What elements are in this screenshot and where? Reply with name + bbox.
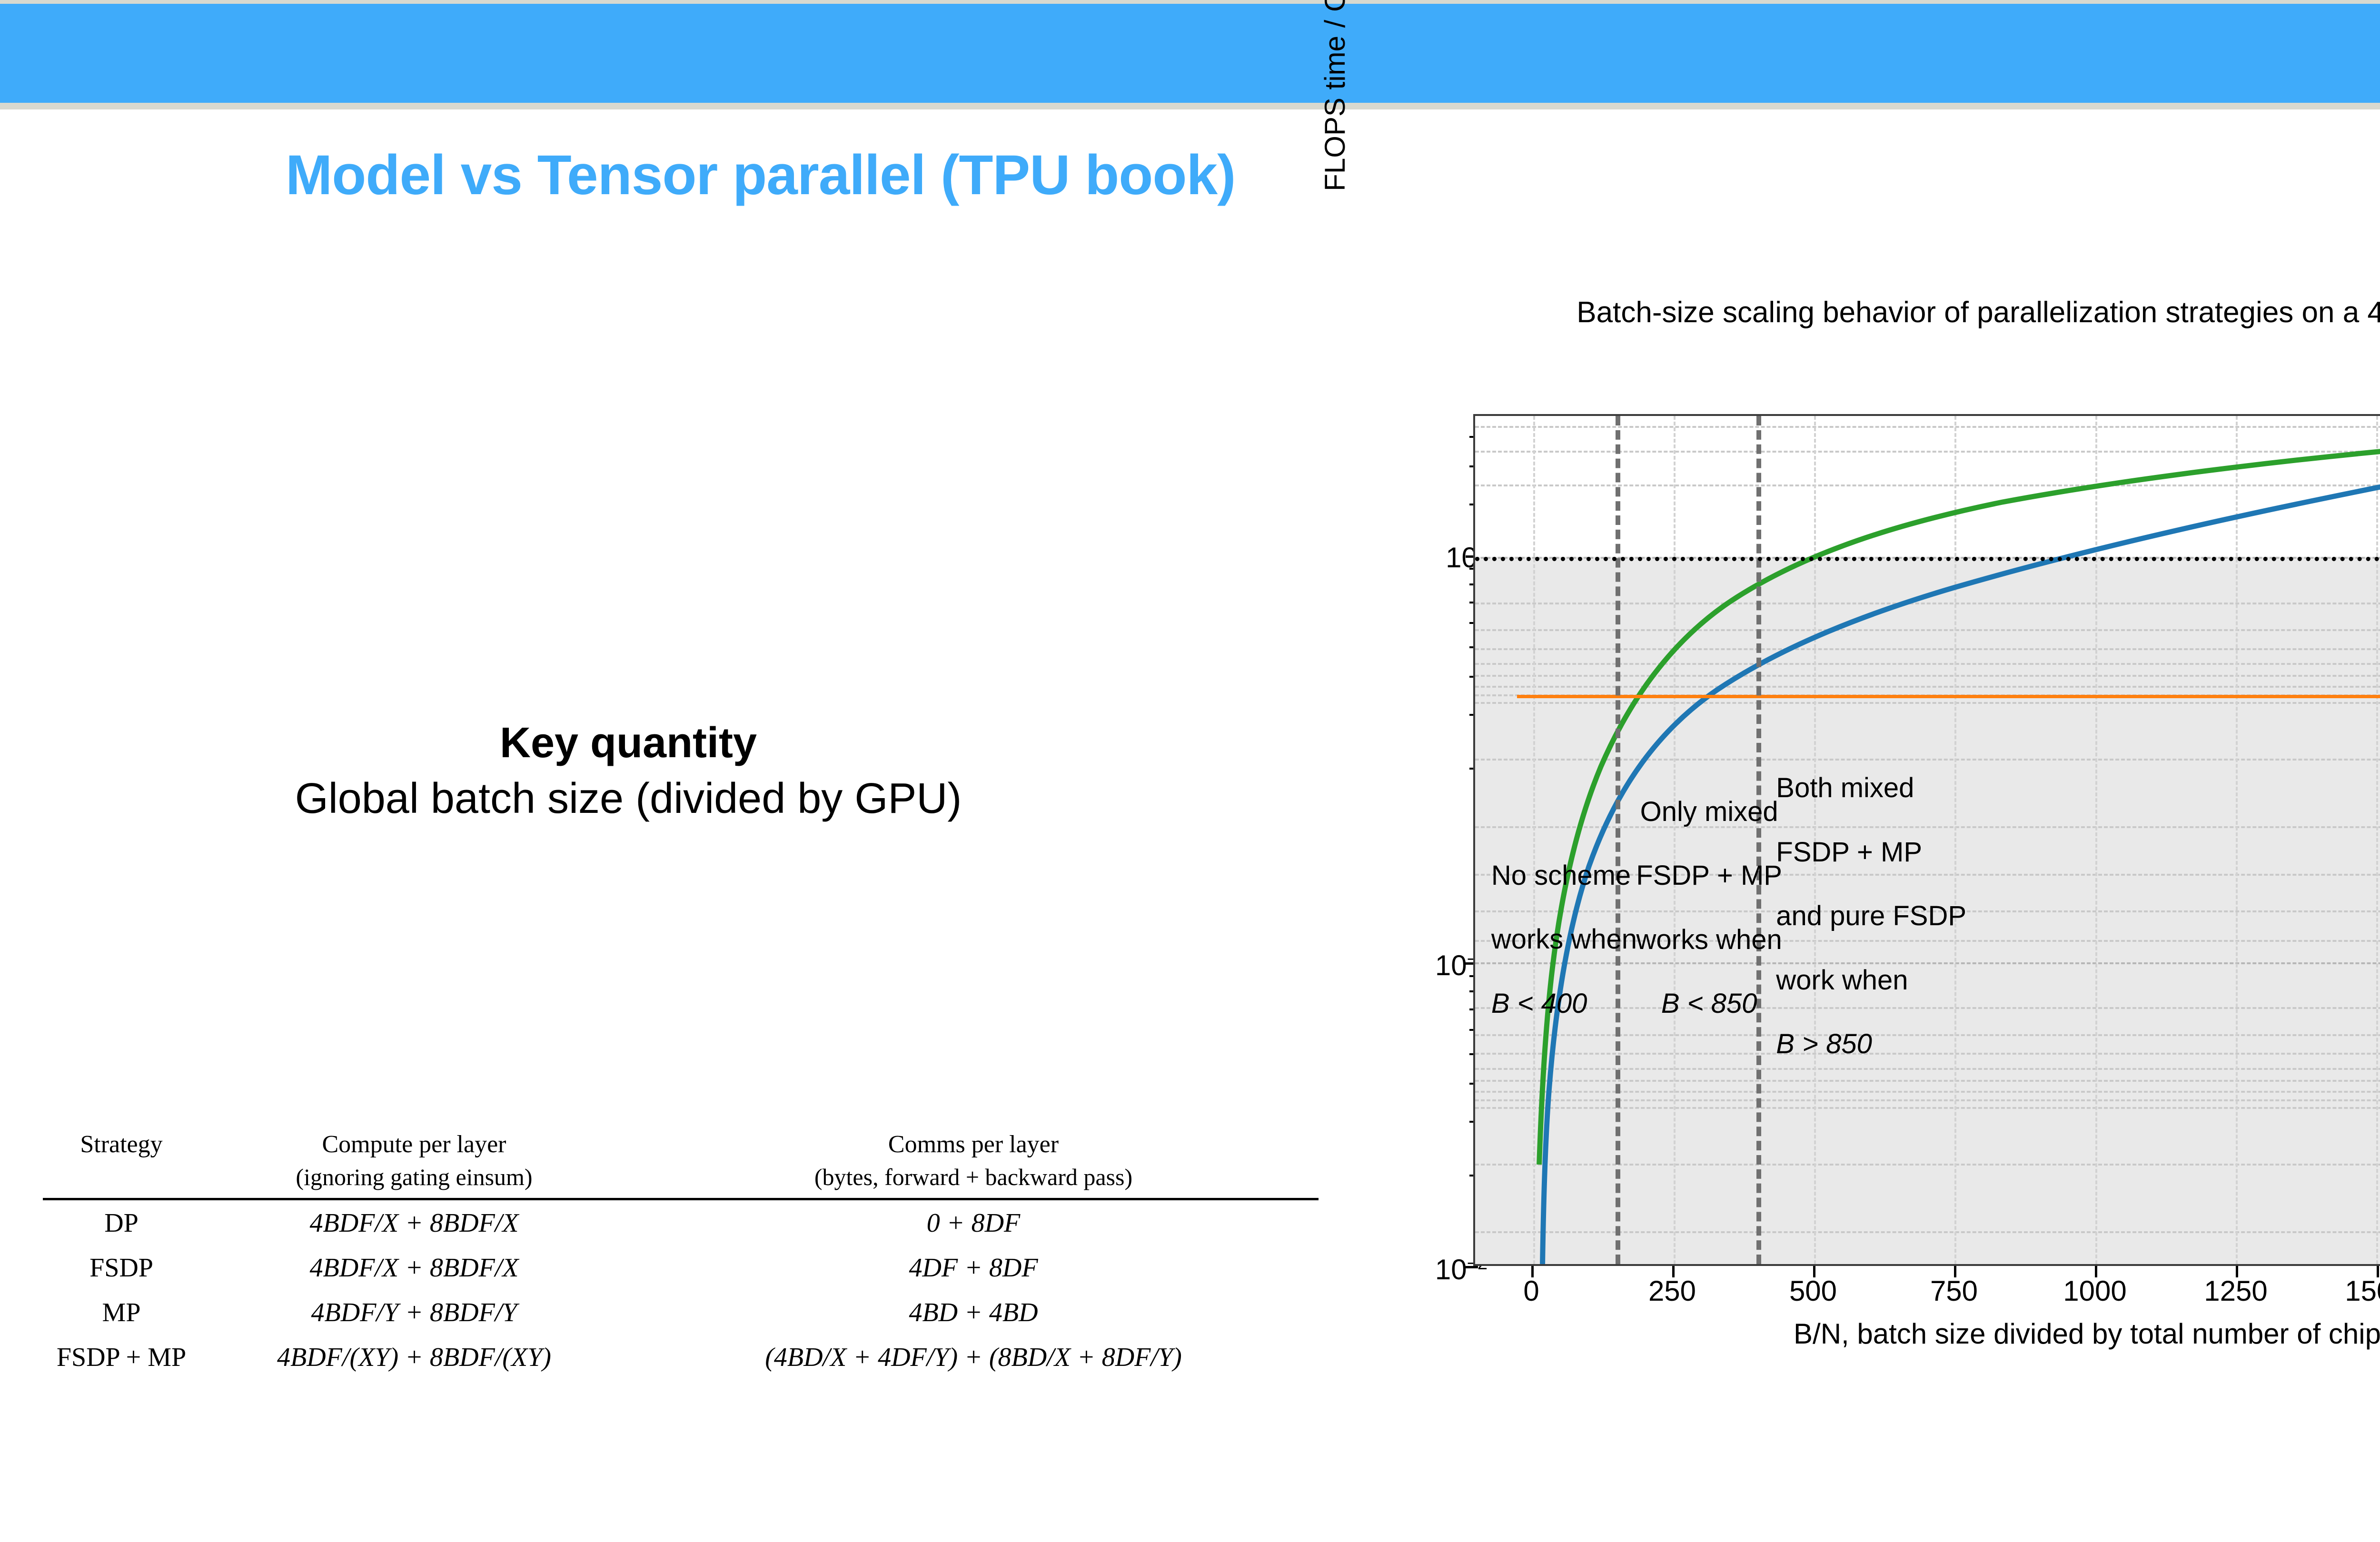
annotation-condition: B > 850	[1776, 1028, 1966, 1060]
cell-strategy: DP	[43, 1199, 200, 1245]
y-tickmark-major	[1466, 1266, 1478, 1268]
chart-y-axis-label: FLOPS time / Comms time	[1319, 0, 1352, 447]
annotation-condition: B < 850	[1636, 988, 1782, 1019]
annotation-only-mixed: Only mixed FSDP + MP works when B < 850	[1636, 764, 1782, 1052]
annotation-line: works when	[1636, 924, 1782, 956]
chart-x-axis-label: B/N, batch size divided by total number …	[1473, 1317, 2380, 1350]
table-row: DP 4BDF/X + 8BDF/X 0 + 8DF	[43, 1199, 1319, 1245]
annotation-line: Both mixed	[1776, 772, 1966, 804]
cell-compute: 4BDF/X + 8BDF/X	[200, 1199, 628, 1245]
annotation-condition: B < 400	[1491, 988, 1637, 1019]
page-title: Model vs Tensor parallel (TPU book)	[286, 143, 1235, 208]
strategy-cost-table: Strategy Compute per layer (ignoring gat…	[43, 1128, 1319, 1379]
cell-comms: 4DF + 8DF	[628, 1245, 1319, 1290]
cell-compute: 4BDF/(XY) + 8BDF/(XY)	[200, 1334, 628, 1379]
computation-bound-line	[1475, 557, 2380, 561]
annotation-line: No scheme	[1491, 860, 1637, 891]
annotation-line: works when	[1491, 923, 1637, 955]
x-tick-label-2: 500	[1775, 1275, 1851, 1307]
annotation-both-mixed: Both mixed FSDP + MP and pure FSDP work …	[1776, 740, 1966, 1092]
slide-canvas: Model vs Tensor parallel (TPU book) Key …	[0, 0, 2380, 1542]
chart-title: Batch-size scaling behavior of paralleli…	[1485, 295, 2380, 330]
key-quantity-text: Global batch size (divided by GPU)	[57, 774, 1200, 823]
x-tick-label-4: 1000	[2057, 1275, 2133, 1307]
key-quantity-heading: Key quantity	[57, 719, 1200, 768]
cell-compute: 4BDF/X + 8BDF/X	[200, 1245, 628, 1290]
cell-comms: 0 + 8DF	[628, 1199, 1319, 1245]
x-tick-label-5: 1250	[2198, 1275, 2274, 1307]
series-line-mp-only	[1517, 695, 2380, 698]
banner-top-strip	[0, 0, 2380, 4]
chart-plot-area: Computation bound Communication bound No…	[1473, 414, 2380, 1266]
table-header-compute: Compute per layer (ignoring gating einsu…	[200, 1128, 628, 1196]
banner-bottom-strip	[0, 103, 2380, 109]
slide-banner	[0, 4, 2380, 103]
annotation-line: and pure FSDP	[1776, 900, 1966, 932]
cell-comms: 4BD + 4BD	[628, 1290, 1319, 1334]
cell-strategy: MP	[43, 1290, 200, 1334]
x-tick-label-1: 250	[1634, 1275, 1710, 1307]
key-quantity-block: Key quantity Global batch size (divided …	[57, 719, 1200, 823]
parallelization-scaling-chart: Batch-size scaling behavior of paralleli…	[1328, 295, 2380, 1356]
table-header-comms: Comms per layer (bytes, forward + backwa…	[628, 1128, 1319, 1196]
cell-strategy: FSDP + MP	[43, 1334, 200, 1379]
table-row: FSDP + MP 4BDF/(XY) + 8BDF/(XY) (4BD/X +…	[43, 1334, 1319, 1379]
table-row: FSDP 4BDF/X + 8BDF/X 4DF + 8DF	[43, 1245, 1319, 1290]
cell-comms: (4BD/X + 4DF/Y) + (8BD/X + 8DF/Y)	[628, 1334, 1319, 1379]
x-tick-label-0: 0	[1493, 1275, 1569, 1307]
annotation-line: Only mixed	[1636, 796, 1782, 828]
annotation-no-scheme: No scheme works when B < 400	[1491, 827, 1637, 1051]
x-tick-label-6: 1500	[2339, 1275, 2380, 1307]
annotation-line: FSDP + MP	[1776, 836, 1966, 868]
annotation-line: FSDP + MP	[1636, 860, 1782, 891]
cell-strategy: FSDP	[43, 1245, 200, 1290]
table-header-strategy: Strategy	[43, 1128, 200, 1196]
x-tick-label-3: 750	[1916, 1275, 1992, 1307]
cell-compute: 4BDF/Y + 8BDF/Y	[200, 1290, 628, 1334]
table-row: MP 4BDF/Y + 8BDF/Y 4BD + 4BD	[43, 1290, 1319, 1334]
annotation-line: work when	[1776, 964, 1966, 996]
